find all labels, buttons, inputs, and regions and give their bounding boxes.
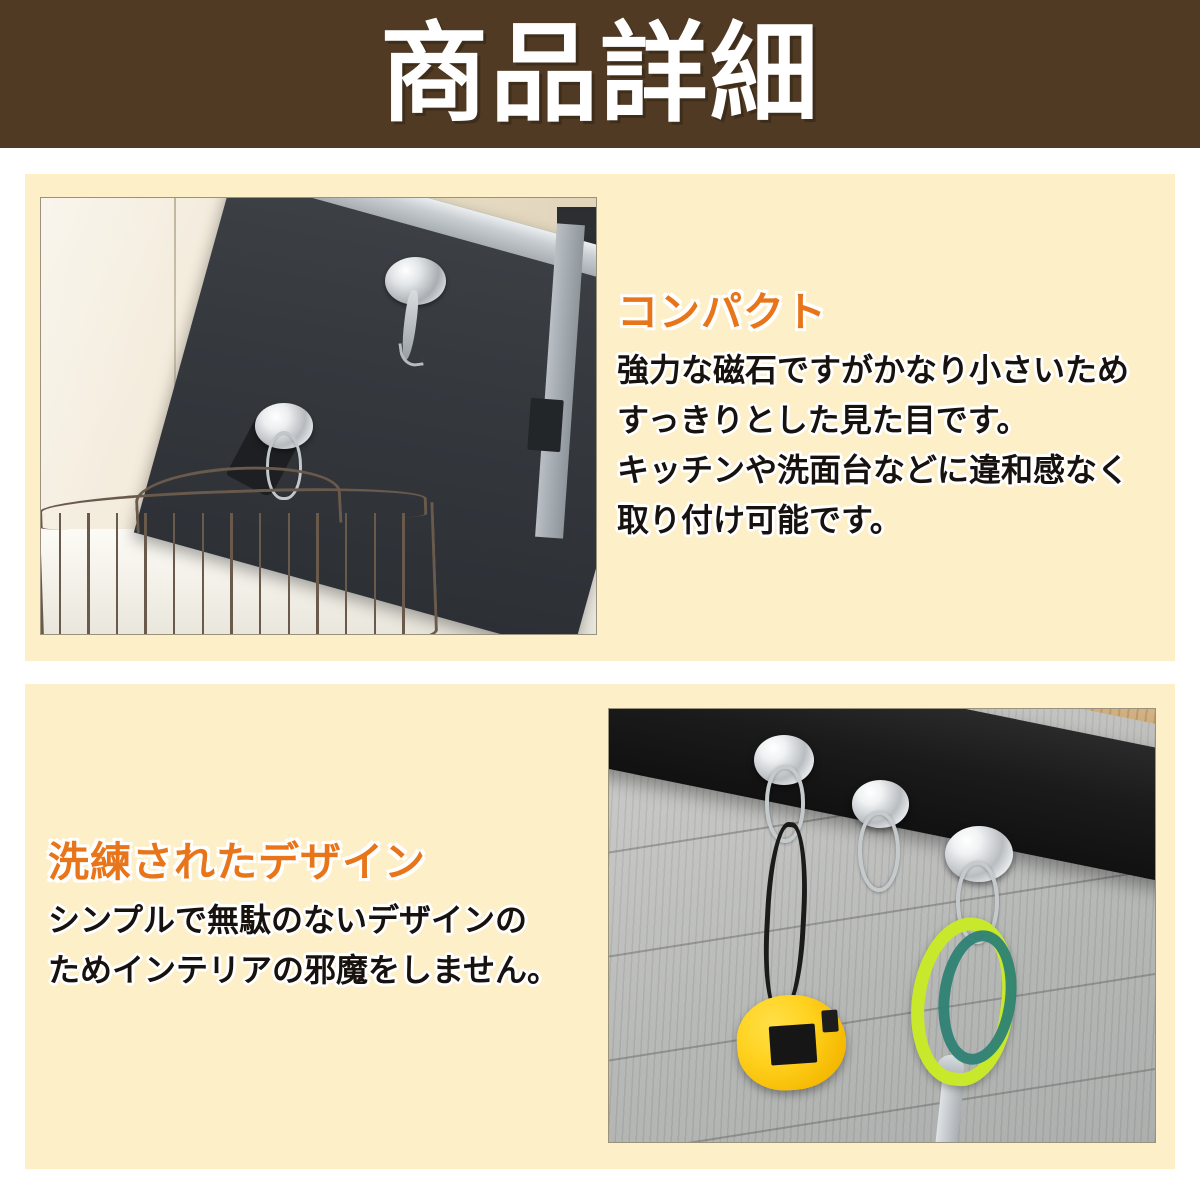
feature-body-line: ためインテリアの邪魔をしません。 bbox=[48, 946, 593, 996]
basket-wire bbox=[59, 513, 61, 635]
photo-design-scene bbox=[609, 709, 1155, 1142]
product-photo-compact bbox=[40, 197, 597, 635]
feature-body-design: シンプルで無駄のないデザインの ためインテリアの邪魔をしません。 bbox=[48, 896, 593, 996]
cabinet-hinge-bracket bbox=[528, 397, 565, 452]
basket-wire bbox=[87, 513, 89, 635]
basket-body bbox=[40, 503, 439, 635]
feature-text-compact: コンパクト 強力な磁石ですがかなり小さいため すっきりとした見た目です。 キッチ… bbox=[617, 288, 1162, 546]
page-title: 商品詳細 bbox=[380, 20, 820, 128]
feature-body-compact: 強力な磁石ですがかなり小さいため すっきりとした見た目です。 キッチンや洗面台な… bbox=[617, 346, 1162, 546]
basket-wire bbox=[116, 513, 118, 635]
basket-wire bbox=[259, 513, 261, 635]
basket-wire bbox=[230, 513, 232, 635]
photo-compact-scene bbox=[41, 198, 596, 634]
feature-body-line: 取り付け可能です。 bbox=[617, 496, 1162, 546]
feature-body-line: 強力な磁石ですがかなり小さいため bbox=[617, 346, 1162, 396]
basket-wire bbox=[374, 513, 376, 635]
basket-wire bbox=[345, 513, 347, 635]
basket-wire bbox=[316, 513, 318, 635]
tape-measure-lock bbox=[821, 1009, 839, 1032]
feature-body-line: シンプルで無駄のないデザインの bbox=[48, 896, 593, 946]
basket-wire bbox=[288, 513, 290, 635]
basket-wire bbox=[402, 513, 404, 635]
feature-body-line: キッチンや洗面台などに違和感なく bbox=[617, 446, 1162, 496]
basket-wire bbox=[173, 513, 175, 635]
wire-basket bbox=[40, 460, 507, 635]
product-photo-design bbox=[608, 708, 1156, 1143]
feature-heading-design: 洗練されたデザイン bbox=[48, 838, 593, 886]
feature-body-line: すっきりとした見た目です。 bbox=[617, 396, 1162, 446]
feature-heading-compact: コンパクト bbox=[617, 288, 1162, 336]
basket-wire bbox=[202, 513, 204, 635]
basket-wire bbox=[144, 513, 146, 635]
page-header-banner: 商品詳細 bbox=[0, 0, 1200, 148]
carabiner-clip-2 bbox=[858, 811, 900, 893]
tape-measure-window bbox=[769, 1024, 818, 1066]
feature-text-design: 洗練されたデザイン シンプルで無駄のないデザインの ためインテリアの邪魔をしませ… bbox=[48, 838, 593, 996]
